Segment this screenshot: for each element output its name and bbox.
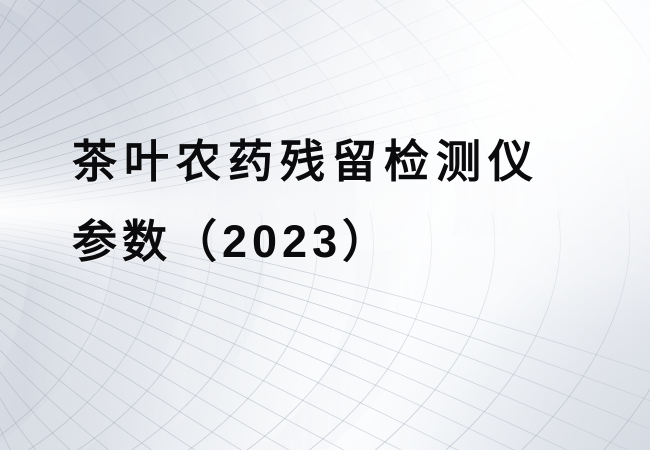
banner-title: 茶叶农药残留检测仪 参数（2023） (72, 122, 612, 282)
banner-title-line-2: 参数（2023） (72, 202, 612, 282)
title-banner: 茶叶农药残留检测仪 参数（2023） (0, 0, 650, 450)
banner-title-line-1: 茶叶农药残留检测仪 (72, 122, 612, 202)
